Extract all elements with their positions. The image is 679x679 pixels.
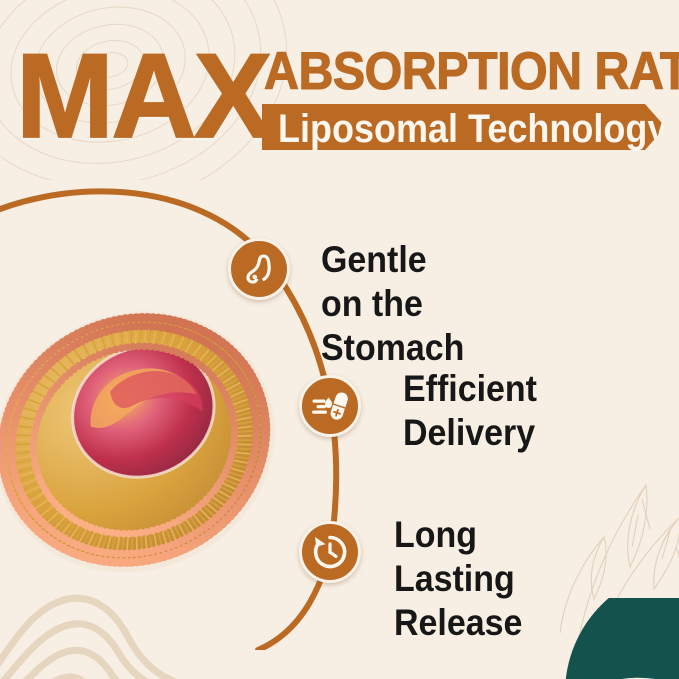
headline-max: MAX [16,36,270,155]
feature-label: Gentle on the Stomach [321,238,464,370]
clock-rewind-icon-glyph [309,531,351,573]
feature-label: Long Lasting Release [394,513,522,645]
header: MAX ABSORPTION RATE Liposomal Technology [0,0,679,175]
headline-absorption-rate: ABSORPTION RATE [264,44,679,97]
teal-quarter-circle-decoration [505,598,679,679]
infographic-poster: MAX ABSORPTION RATE Liposomal Technology [0,0,679,679]
liposomal-technology-banner: Liposomal Technology [262,104,679,150]
stomach-icon-glyph [239,249,279,289]
feature-label: Efficient Delivery [403,367,537,455]
stomach-icon[interactable] [228,238,290,300]
clock-rewind-icon[interactable] [299,521,361,583]
banner-label: Liposomal Technology [278,107,667,151]
capsule-droplet-icon[interactable] [299,375,361,437]
capsule-droplet-icon-glyph [309,385,351,427]
liposome-illustration [0,290,298,590]
botanical-leaves-decoration [520,455,679,635]
